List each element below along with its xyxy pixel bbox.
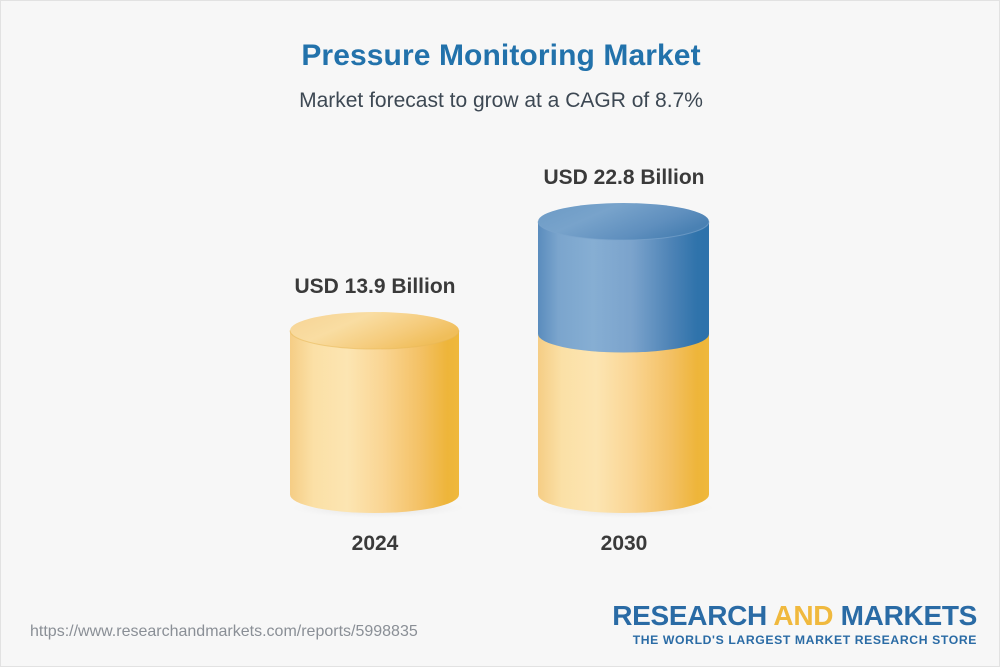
data-label-2030: USD 22.8 Billion: [479, 166, 769, 190]
logo-wordmark: RESEARCH AND MARKETS: [612, 601, 977, 630]
logo-word-research: RESEARCH: [612, 600, 767, 631]
bar-chart: USD 13.9 Billion USD 22.8 Billion: [1, 1, 1000, 667]
source-url[interactable]: https://www.researchandmarkets.com/repor…: [30, 623, 418, 641]
category-label-2030: 2030: [479, 532, 769, 556]
data-label-2024: USD 13.9 Billion: [230, 275, 520, 299]
bar-cylinder-2030: [538, 203, 709, 513]
bar-cylinder-2024: [290, 312, 459, 513]
research-and-markets-logo: RESEARCH AND MARKETS THE WORLD'S LARGEST…: [612, 601, 977, 647]
category-label-2024: 2024: [230, 532, 520, 556]
logo-tagline: THE WORLD'S LARGEST MARKET RESEARCH STOR…: [612, 633, 977, 647]
logo-word-markets: MARKETS: [841, 600, 977, 631]
infographic-canvas: Pressure Monitoring Market Market foreca…: [0, 0, 1000, 667]
logo-word-and: AND: [767, 600, 841, 631]
